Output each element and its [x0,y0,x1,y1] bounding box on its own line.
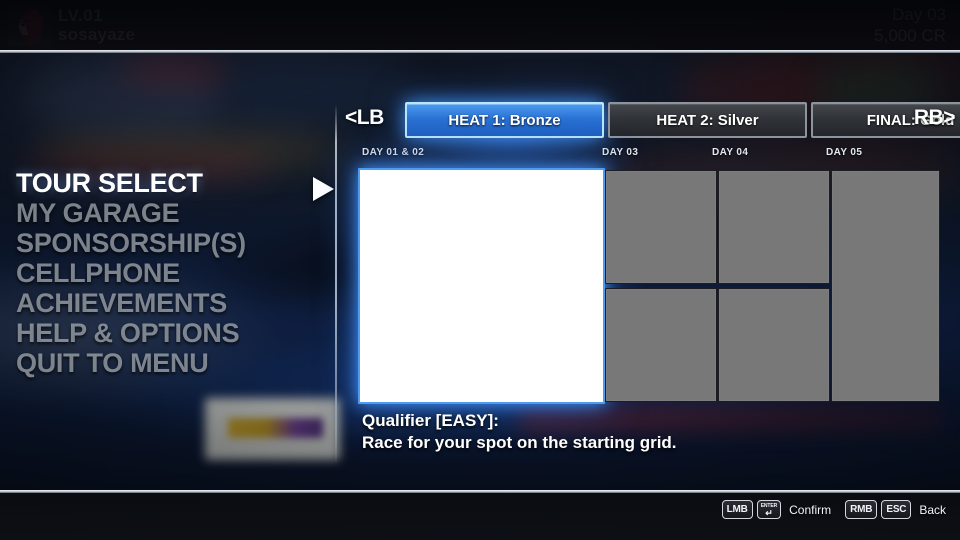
esc-key-icon[interactable]: ESC [881,500,911,519]
enter-return-arrow-icon: ↵ [765,509,772,517]
menu-item-cellphone[interactable]: CELLPHONE [16,258,316,288]
stage-tile-day05[interactable] [831,170,940,402]
menu-item-help-options[interactable]: HELP & OPTIONS [16,318,316,348]
menu-item-sponsorships[interactable]: SPONSORSHIP(S) [16,228,316,258]
day-label-03: DAY 03 [602,147,638,158]
panel-divider [335,106,337,462]
stage-grid [358,168,938,400]
rmb-key-icon[interactable]: RMB [845,500,877,519]
play-triangle-icon [310,175,336,208]
tab-heat-2-silver[interactable]: HEAT 2: Silver [608,102,807,138]
menu-item-tour-select[interactable]: TOUR SELECT [16,168,316,198]
day-label-05: DAY 05 [826,147,862,158]
top-header-bar [0,0,960,52]
enter-key-icon[interactable]: ENTER ↵ [757,500,781,519]
menu-item-my-garage[interactable]: MY GARAGE [16,198,316,228]
day-label-04: DAY 04 [712,147,748,158]
hint-label-back: Back [919,504,946,516]
stage-tile-day03-b[interactable] [605,288,717,402]
lmb-key-icon[interactable]: LMB [722,500,753,519]
main-menu-list: TOUR SELECT MY GARAGE SPONSORSHIP(S) CEL… [16,168,316,378]
menu-item-quit-to-menu[interactable]: QUIT TO MENU [16,348,316,378]
tab-heat-1-bronze[interactable]: HEAT 1: Bronze [405,102,604,138]
control-hints: LMB ENTER ↵ Confirm RMB ESC Back [722,500,946,519]
header-divider-line [0,50,960,53]
prev-page-bumper[interactable]: <LB [345,106,384,130]
stage-tile-day04-a[interactable] [718,170,830,284]
stage-description-title: Qualifier [EASY]: [362,410,922,432]
day-label-01-02: DAY 01 & 02 [362,147,424,158]
hint-label-confirm: Confirm [789,504,831,516]
stage-description: Qualifier [EASY]: Race for your spot on … [362,410,922,454]
stage-description-subtitle: Race for your spot on the starting grid. [362,432,922,454]
stage-tile-day03-a[interactable] [605,170,717,284]
menu-item-achievements[interactable]: ACHIEVEMENTS [16,288,316,318]
game-screen: LV.01 sosayaze Day 03 5,000 CR TOUR SELE… [0,0,960,540]
next-page-bumper[interactable]: RB> [914,106,955,130]
heat-tabs-row: <LB HEAT 1: Bronze HEAT 2: Silver FINAL:… [345,102,955,138]
stage-tile-day01-02[interactable] [358,168,605,404]
stage-tile-day04-b[interactable] [718,288,830,402]
